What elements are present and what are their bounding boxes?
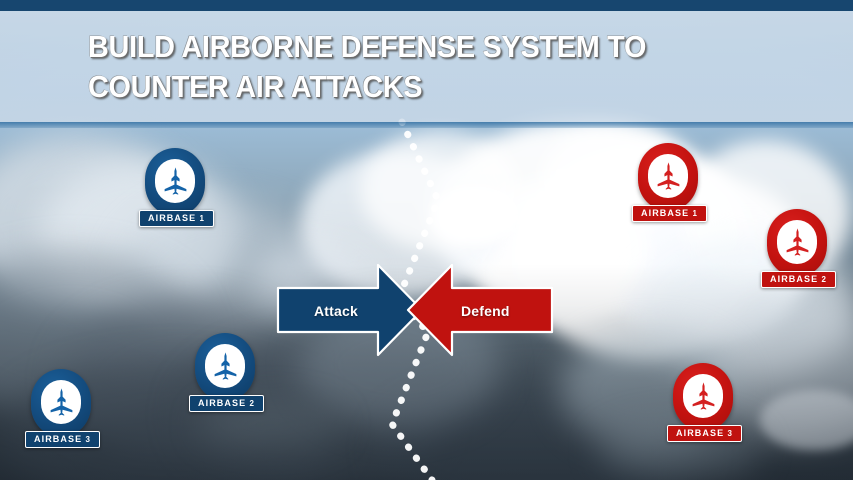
defend-arrow-label: Defend <box>461 303 510 319</box>
airbase-marker-red-3[interactable]: AIRBASE 3 <box>667 363 739 442</box>
cloud-shape <box>430 185 520 245</box>
jet-icon <box>211 350 240 382</box>
airbase-marker-red-1[interactable]: AIRBASE 1 <box>632 143 704 222</box>
marker-label: AIRBASE 2 <box>761 271 836 288</box>
airbase-marker-red-2[interactable]: AIRBASE 2 <box>761 209 833 288</box>
marker-label-text: AIRBASE <box>770 274 818 284</box>
marker-label: AIRBASE 2 <box>189 395 264 412</box>
airbase-marker-blue-2[interactable]: AIRBASE 2 <box>189 333 261 412</box>
attack-arrow-label: Attack <box>314 303 358 319</box>
marker-label-text: AIRBASE <box>641 208 689 218</box>
marker-label: AIRBASE 3 <box>25 431 100 448</box>
jet-icon <box>161 165 190 197</box>
marker-inner-circle <box>648 154 688 198</box>
marker-label: AIRBASE 1 <box>632 205 707 222</box>
marker-label-number: 3 <box>724 429 733 438</box>
airbase-marker-blue-1[interactable]: AIRBASE 1 <box>139 148 211 227</box>
marker-inner-circle <box>41 380 81 424</box>
marker-label: AIRBASE 1 <box>139 210 214 227</box>
title-band-rule <box>0 122 853 128</box>
marker-inner-circle <box>777 220 817 264</box>
marker-inner-circle <box>155 159 195 203</box>
jet-icon <box>783 226 812 258</box>
page-title: BUILD AIRBORNE DEFENSE SYSTEM TO COUNTER… <box>88 27 739 108</box>
attack-defend-arrows: Attack Defend <box>270 262 560 358</box>
marker-label-text: AIRBASE <box>198 398 246 408</box>
marker-inner-circle <box>205 344 245 388</box>
marker-label-number: 1 <box>689 209 698 218</box>
marker-label-number: 2 <box>246 399 255 408</box>
marker-label-text: AIRBASE <box>148 213 196 223</box>
slide-canvas: BUILD AIRBORNE DEFENSE SYSTEM TO COUNTER… <box>0 0 853 480</box>
marker-label-number: 1 <box>196 214 205 223</box>
marker-label: AIRBASE 3 <box>667 425 742 442</box>
jet-icon <box>689 380 718 412</box>
marker-inner-circle <box>683 374 723 418</box>
marker-label-number: 3 <box>82 435 91 444</box>
jet-icon <box>654 160 683 192</box>
airbase-marker-blue-3[interactable]: AIRBASE 3 <box>25 369 97 448</box>
marker-label-text: AIRBASE <box>34 434 82 444</box>
marker-label-text: AIRBASE <box>676 428 724 438</box>
marker-label-number: 2 <box>818 275 827 284</box>
top-accent-bar <box>0 0 853 11</box>
jet-icon <box>47 386 76 418</box>
